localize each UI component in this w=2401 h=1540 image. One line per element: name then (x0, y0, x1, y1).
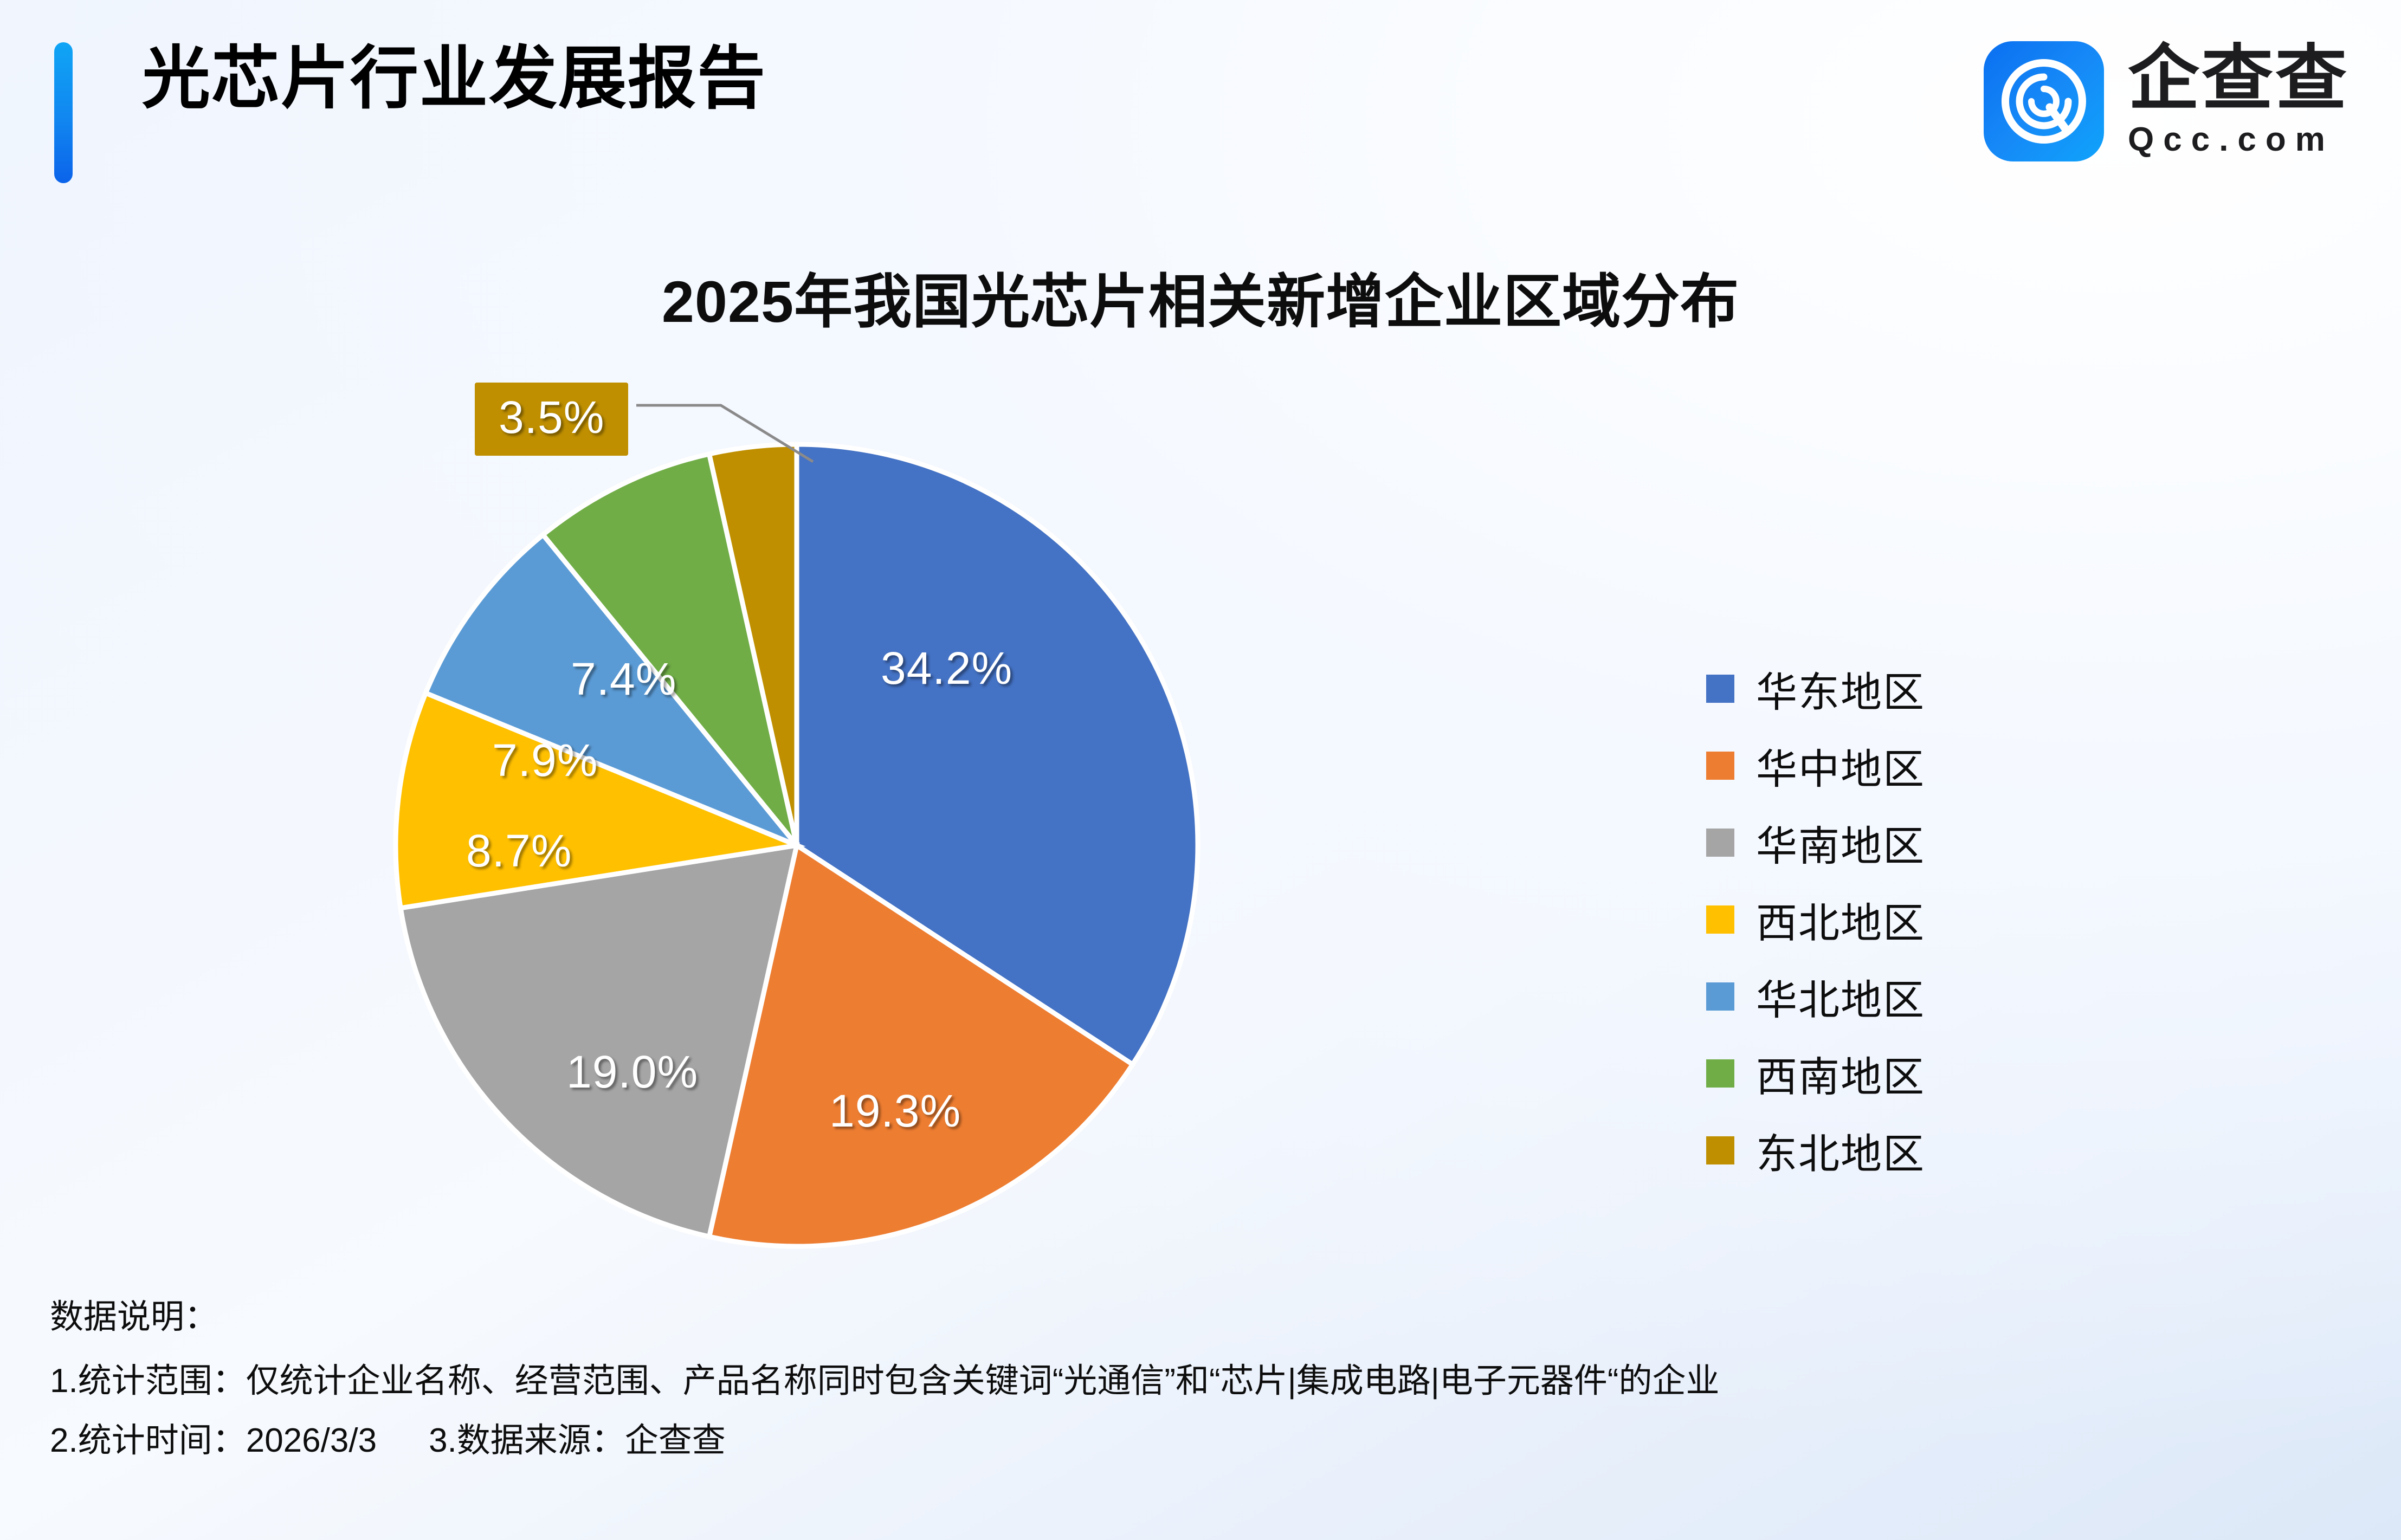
legend-item-huabei[interactable]: 华北地区 (1706, 958, 1925, 1035)
pie-chart: 34.2% 19.3% 19.0% 8.7% 7.9% 7.4% (390, 439, 1203, 1252)
legend-swatch-icon-0 (1706, 675, 1734, 703)
pie-slice-value-5: 7.4% (571, 653, 676, 706)
pie-slice-value-6-callout: 3.5% (475, 383, 628, 456)
legend-item-huazhong[interactable]: 华中地区 (1706, 727, 1925, 804)
pie-slice-value-3: 8.7% (466, 825, 572, 877)
legend-label-6: 东北地区 (1756, 1121, 1925, 1180)
legend-label-3: 西北地区 (1756, 890, 1925, 949)
chart-legend: 华东地区 华中地区 华南地区 西北地区 华北地区 西南地区 东北地区 (1706, 650, 1925, 1189)
legend-label-4: 华北地区 (1756, 967, 1925, 1026)
legend-item-xinan[interactable]: 西南地区 (1706, 1035, 1925, 1112)
footnote-time-source: 2.统计时间：2026/3/33.数据来源：企查查 (50, 1424, 2326, 1458)
legend-item-huanan[interactable]: 华南地区 (1706, 804, 1925, 881)
pie-slice-value-2: 19.0% (566, 1046, 698, 1098)
legend-swatch-icon-5 (1706, 1059, 1734, 1088)
footer-notes: 数据说明： 1.统计范围：仅统计企业名称、经营范围、产品名称同时包含关键词“光通… (50, 1300, 2326, 1458)
chart-title: 2025年我国光芯片相关新增企业区域分布 (0, 255, 2401, 339)
legend-item-xibei[interactable]: 西北地区 (1706, 881, 1925, 958)
footnote-heading: 数据说明： (50, 1300, 2326, 1334)
title-accent-bar (54, 42, 73, 183)
legend-item-huadong[interactable]: 华东地区 (1706, 650, 1925, 727)
brand-logo: 企查查 Qcc.com (1984, 41, 2349, 161)
legend-swatch-icon-1 (1706, 752, 1734, 780)
brand-logo-text: 企查查 Qcc.com (2128, 42, 2349, 160)
pie-slice-value-4: 7.9% (492, 734, 598, 787)
legend-swatch-icon-3 (1706, 905, 1734, 934)
page-header: 光芯片行业发展报告 企查查 Qcc.com (0, 0, 2401, 211)
legend-swatch-icon-2 (1706, 829, 1734, 857)
footnote-time: 2.统计时间：2026/3/3 (50, 1422, 377, 1459)
report-page: 光芯片行业发展报告 企查查 Qcc.com 2025年我国光芯片相关新增企业区域… (0, 0, 2401, 1540)
legend-swatch-icon-6 (1706, 1136, 1734, 1164)
legend-label-0: 华东地区 (1756, 659, 1925, 719)
page-title: 光芯片行业发展报告 (142, 44, 766, 113)
brand-name-cn: 企查查 (2128, 42, 2349, 115)
brand-domain: Qcc.com (2128, 119, 2349, 161)
legend-label-5: 西南地区 (1756, 1044, 1925, 1103)
legend-label-1: 华中地区 (1756, 736, 1925, 795)
pie-slice-value-0: 34.2% (881, 642, 1012, 695)
footnote-scope: 1.统计范围：仅统计企业名称、经营范围、产品名称同时包含关键词“光通信”和“芯片… (50, 1364, 2326, 1398)
legend-item-dongbei[interactable]: 东北地区 (1706, 1112, 1925, 1189)
footnote-source: 3.数据来源：企查查 (429, 1422, 726, 1459)
pie-slice-value-1: 19.3% (829, 1085, 961, 1137)
legend-swatch-icon-4 (1706, 982, 1734, 1011)
legend-label-2: 华南地区 (1756, 813, 1925, 872)
qcc-spiral-logo-icon (1984, 41, 2104, 161)
